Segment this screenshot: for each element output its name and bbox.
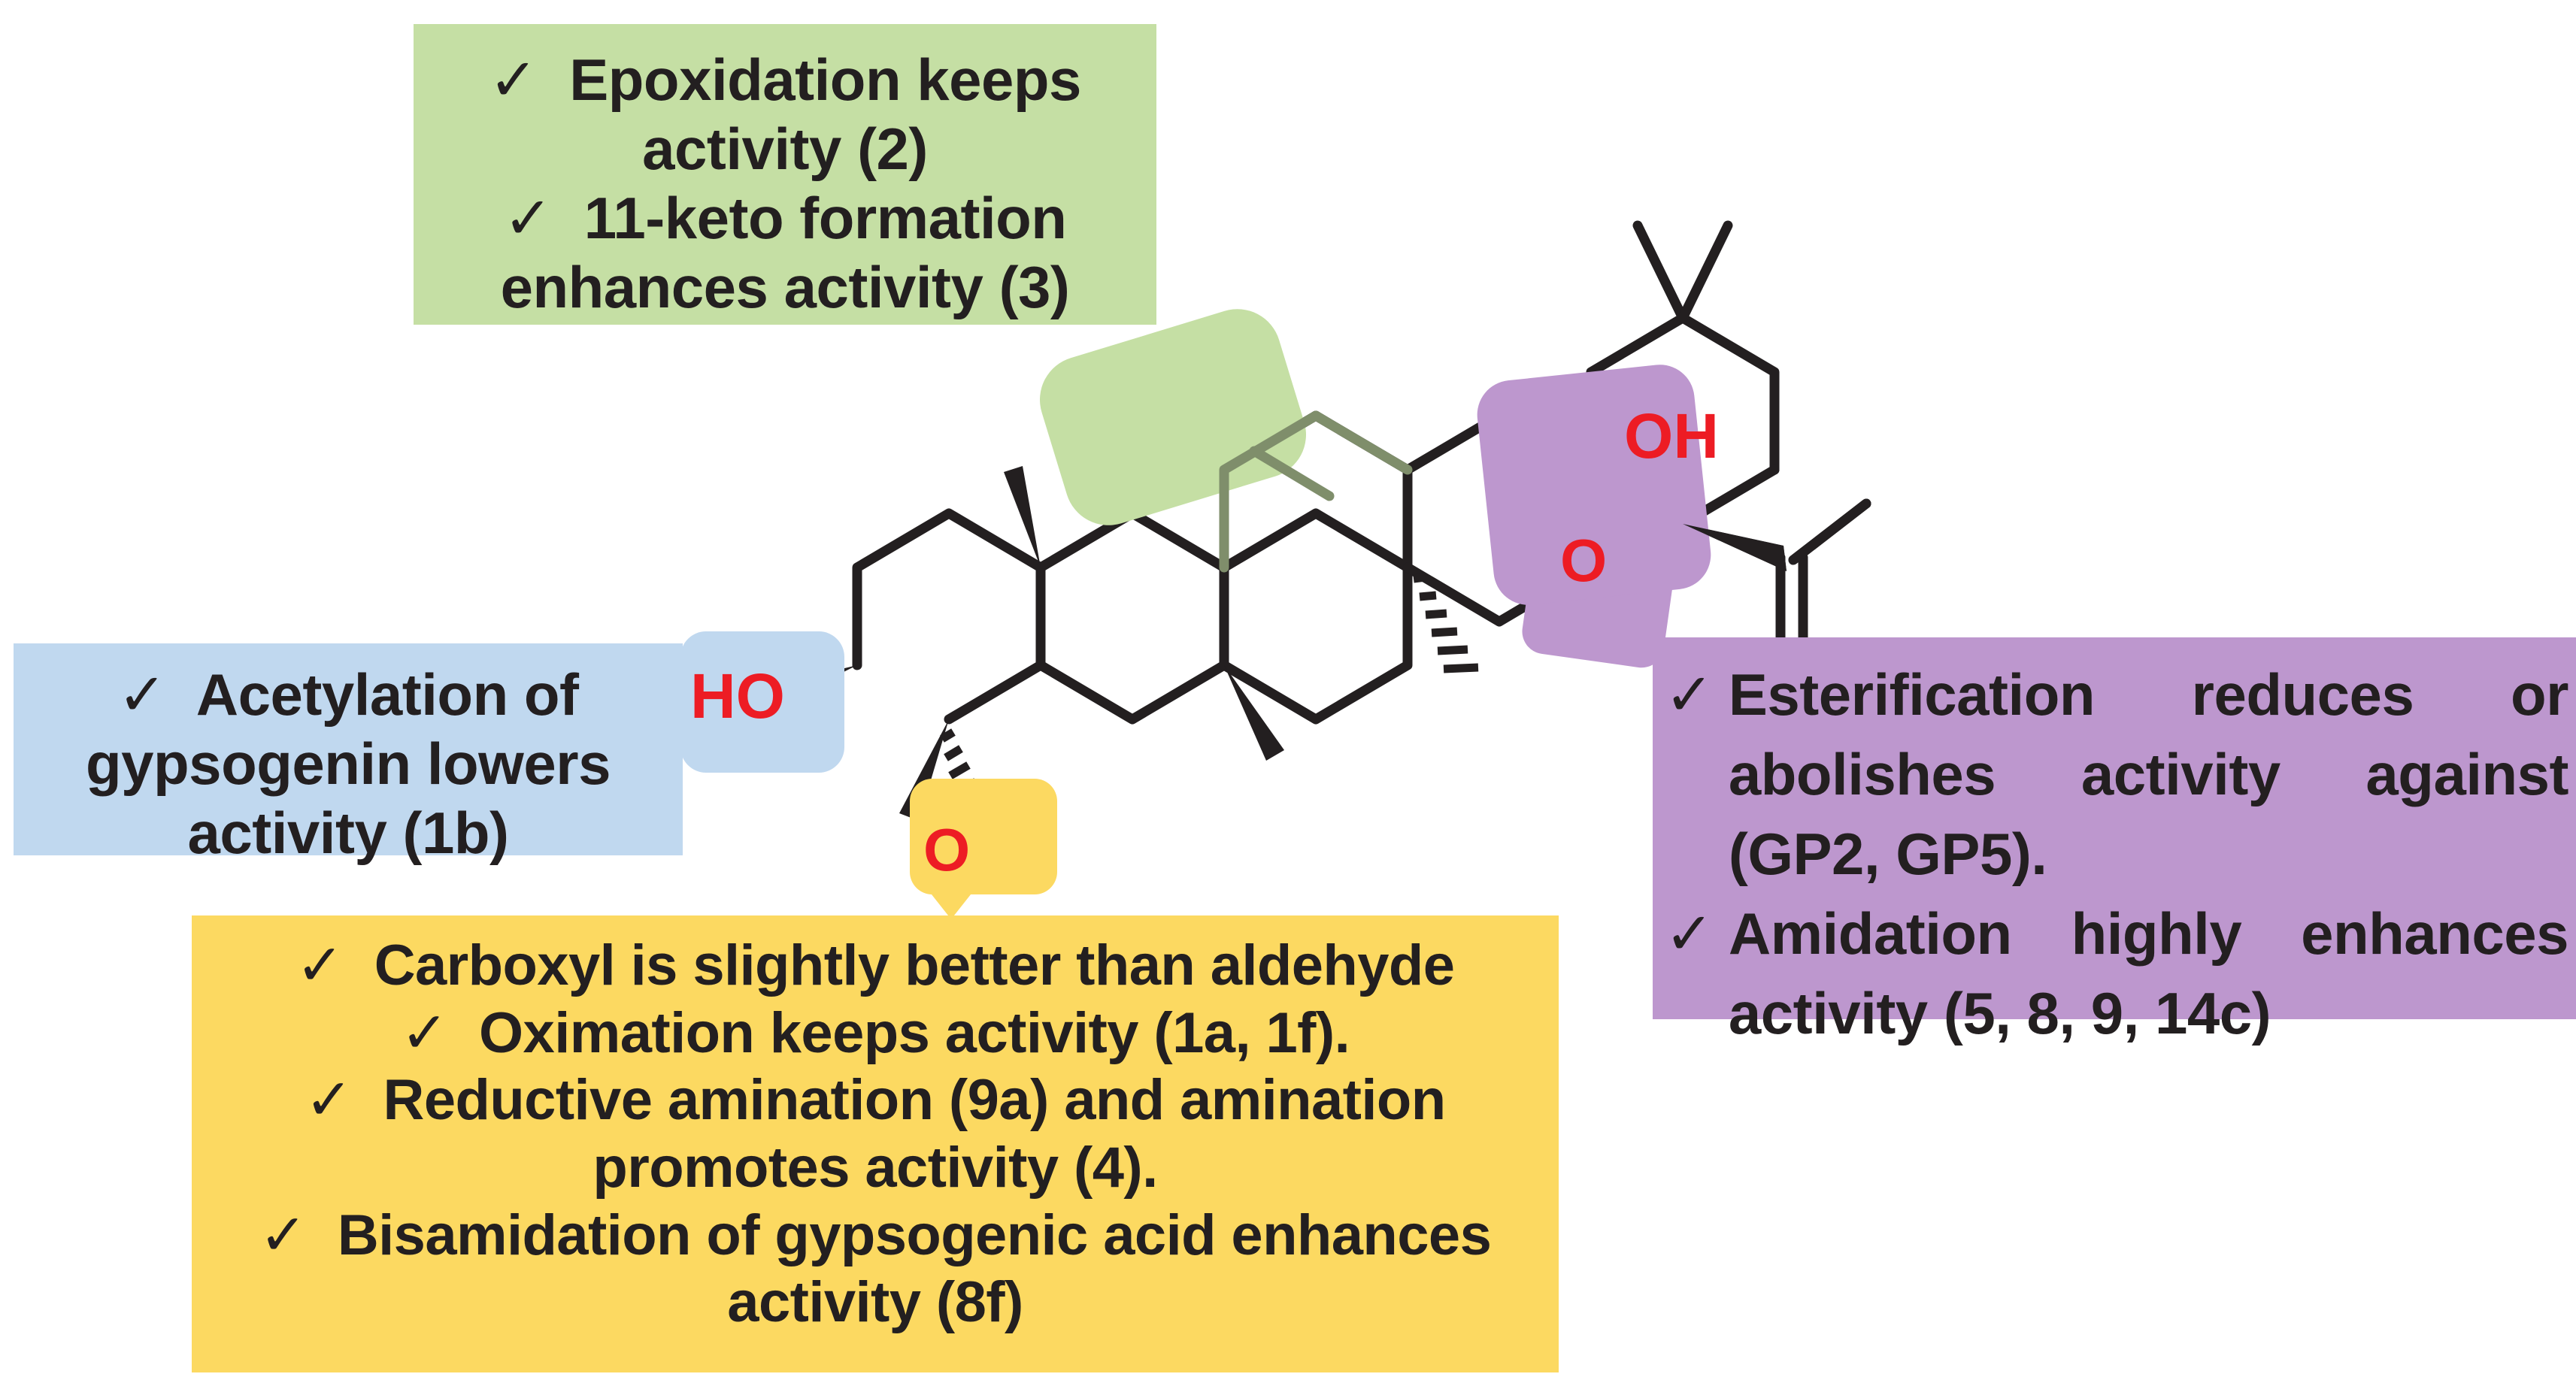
yellow-line-6: activity (8f) (211, 1269, 1539, 1336)
purple-line-1: Esterification reduces or (1729, 660, 2568, 729)
aldehyde-oxygen-label: O (923, 816, 970, 885)
carboxyl-oxygen-label: O (1560, 526, 1607, 595)
hydroxyl-label: HO (690, 660, 785, 733)
carboxyl-hydroxyl-label: OH (1624, 400, 1719, 473)
yellow-line-1: ✓ Carboxyl is slightly better than aldeh… (211, 932, 1539, 1000)
purple-line-2: abolishes activity against (1729, 740, 2568, 809)
blue-line-3: activity (1b) (27, 798, 669, 867)
yellow-line-4: promotes activity (4). (211, 1134, 1539, 1202)
checkmark-icon: ✓ (1665, 899, 1714, 968)
green-line-3: ✓ 11-keto formation (433, 183, 1137, 253)
acetylation-box: ✓ Acetylation of gypsogenin lowers activ… (14, 643, 683, 855)
purple-bullet-1: ✓ Esterification reduces or abolishes ac… (1665, 660, 2568, 899)
green-line-4: enhances activity (3) (433, 253, 1137, 322)
yellow-line-3: ✓ Reductive amination (9a) and amination (211, 1067, 1539, 1134)
blue-line-2: gypsogenin lowers (27, 729, 669, 798)
purple-line-4: Amidation highly enhances (1729, 899, 2568, 968)
purple-line-5: activity (5, 8, 9, 14c) (1729, 979, 2568, 1048)
esterification-amidation-box: ✓ Esterification reduces or abolishes ac… (1653, 637, 2576, 1019)
purple-line-3: (GP2, GP5). (1729, 819, 2568, 888)
epoxidation-keto-box: ✓ Epoxidation keeps activity (2) ✓ 11-ke… (414, 24, 1156, 325)
purple-bullet-2: ✓ Amidation highly enhances activity (5,… (1665, 899, 2568, 1058)
carboxyl-amination-box: ✓ Carboxyl is slightly better than aldeh… (192, 915, 1559, 1372)
carboxyl-group (1780, 504, 1866, 655)
blue-line-1: ✓ Acetylation of (27, 660, 669, 729)
checkmark-icon: ✓ (1665, 660, 1714, 729)
green-line-1: ✓ Epoxidation keeps (433, 45, 1137, 114)
yellow-line-5: ✓ Bisamidation of gypsogenic acid enhanc… (211, 1202, 1539, 1270)
yellow-line-2: ✓ Oximation keeps activity (1a, 1f). (211, 1000, 1539, 1067)
green-line-2: activity (2) (433, 114, 1137, 183)
